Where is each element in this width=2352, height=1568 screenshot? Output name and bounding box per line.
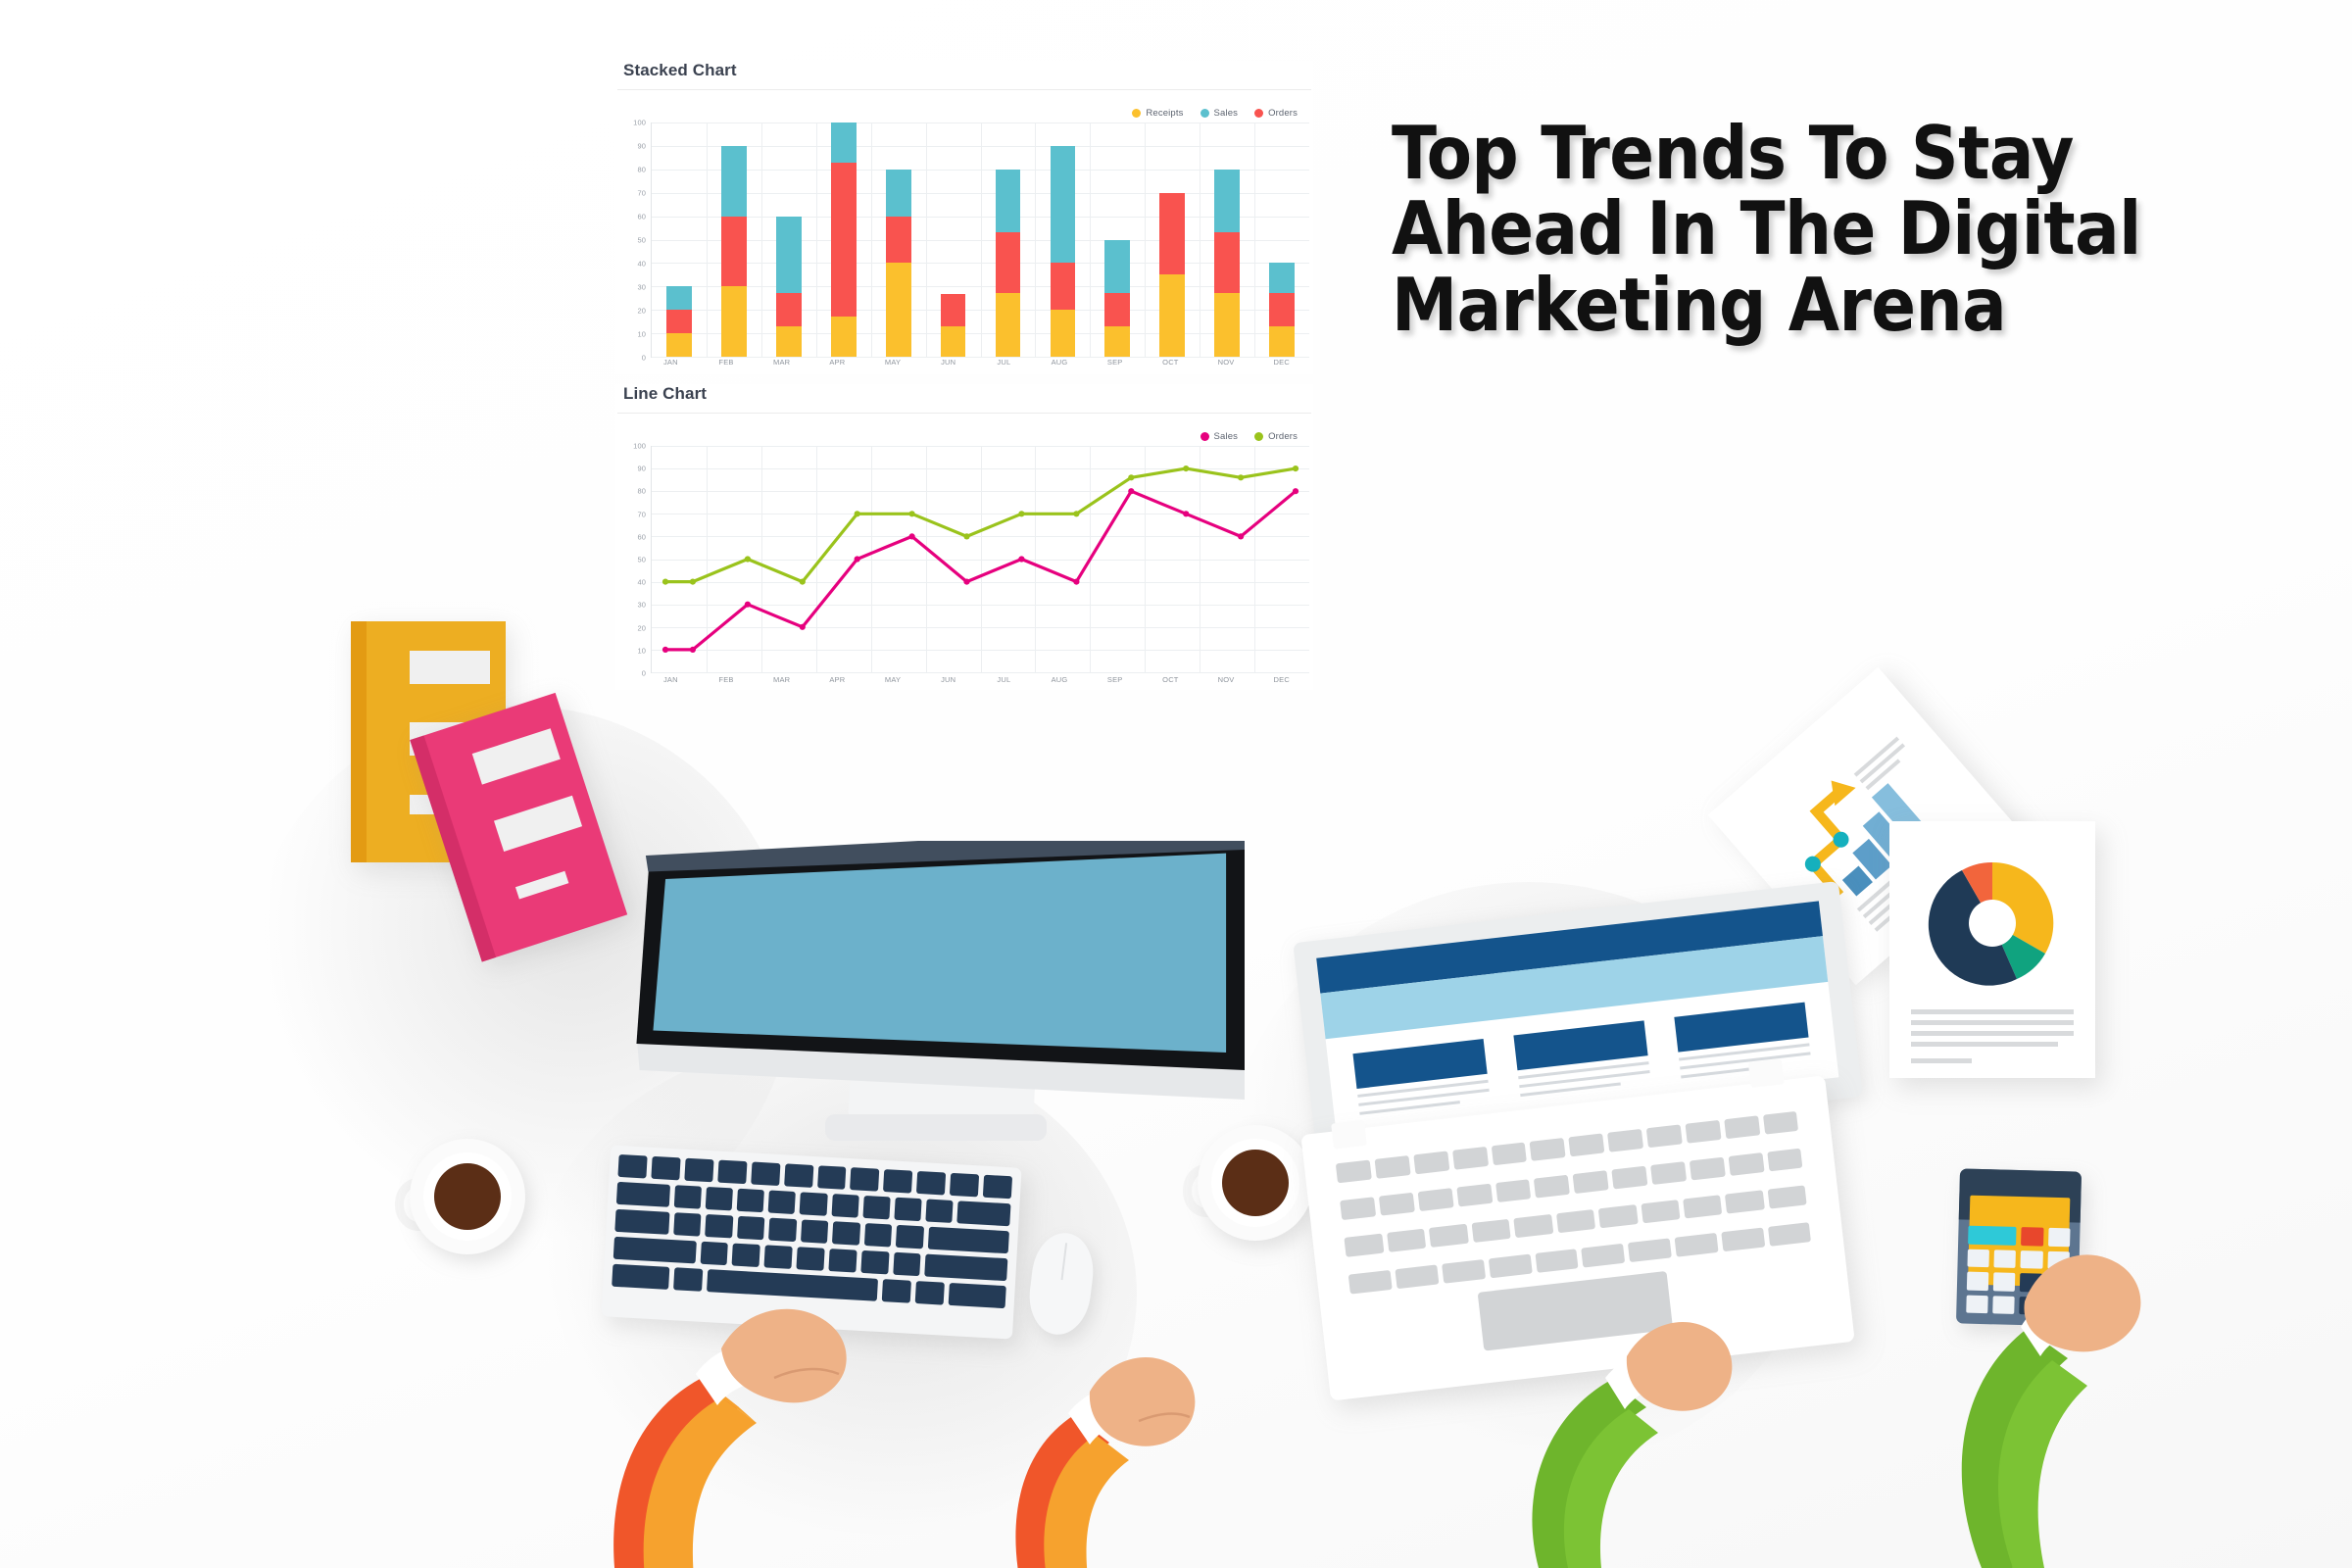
bar-segment-orders — [941, 294, 966, 326]
legend-color-dot — [1254, 109, 1263, 118]
y-tick-label: 10 — [637, 330, 646, 339]
bar-slot — [761, 122, 816, 357]
x-tick-label: MAY — [865, 675, 921, 684]
line-point — [690, 647, 696, 653]
donut-chart — [1889, 821, 2095, 1078]
line-point — [1183, 511, 1189, 516]
stacked-chart-y-axis: 0102030405060708090100 — [623, 122, 649, 358]
stacked-bar — [831, 122, 857, 357]
bar-slot — [926, 122, 981, 357]
line-chart-plot — [651, 446, 1309, 673]
line-point — [963, 579, 969, 585]
legend-label: Orders — [1268, 108, 1298, 119]
stacked-chart-title: Stacked Chart — [615, 61, 1313, 89]
stacked-bar — [1214, 170, 1240, 357]
stacked-bar — [721, 146, 747, 357]
monitor — [627, 841, 1245, 1135]
page-title: Top Trends To Stay Ahead In The Digital … — [1392, 116, 2274, 343]
bar-slot — [1145, 122, 1200, 357]
coffee-liquid — [434, 1163, 501, 1230]
bar-segment-sales — [666, 286, 692, 310]
line-point — [1238, 474, 1244, 480]
line-chart-series — [652, 446, 1309, 672]
bar-slot — [1035, 122, 1090, 357]
coffee-cup-left — [410, 1139, 525, 1254]
line-point — [1018, 556, 1024, 562]
bar-segment-orders — [776, 293, 802, 325]
y-tick-label: 30 — [637, 283, 646, 292]
x-tick-label: FEB — [699, 358, 755, 367]
line-point — [662, 579, 668, 585]
x-tick-label: OCT — [1143, 675, 1199, 684]
bar-segment-receipts — [831, 317, 857, 357]
legend-label: Sales — [1214, 431, 1239, 442]
stacked-bar — [996, 170, 1021, 357]
stacked-chart-plot — [651, 122, 1309, 358]
stacked-chart-card: Stacked Chart ReceiptsSalesOrders 010203… — [615, 61, 1313, 374]
line-point — [1293, 465, 1298, 471]
stacked-chart-bars — [652, 122, 1309, 357]
line-point — [963, 533, 969, 539]
bar-segment-receipts — [666, 333, 692, 357]
y-tick-label: 40 — [637, 578, 646, 587]
y-tick-label: 100 — [633, 119, 646, 127]
bar-segment-receipts — [886, 263, 911, 357]
book-label-band — [494, 795, 582, 851]
x-tick-label: OCT — [1143, 358, 1199, 367]
line-point — [909, 511, 915, 516]
document-pie — [1889, 821, 2095, 1078]
y-tick-label: 60 — [637, 213, 646, 221]
x-tick-label: JAN — [643, 675, 699, 684]
stacked-bar — [1104, 240, 1130, 358]
line-point — [855, 556, 860, 562]
coffee-liquid — [1222, 1150, 1289, 1216]
line-point — [1238, 533, 1244, 539]
x-tick-label: JUN — [920, 358, 976, 367]
legend-item: Sales — [1200, 108, 1239, 119]
line-series-orders — [665, 468, 1296, 581]
line-point — [1073, 579, 1079, 585]
bar-slot — [1254, 122, 1309, 357]
bar-segment-receipts — [776, 326, 802, 357]
laptop-hinge — [1748, 1059, 1785, 1089]
legend-color-dot — [1132, 109, 1141, 118]
bar-segment-receipts — [1104, 326, 1130, 357]
x-tick-label: APR — [809, 675, 865, 684]
bar-segment-orders — [831, 163, 857, 318]
legend-color-dot — [1200, 432, 1209, 441]
bar-segment-orders — [1214, 232, 1240, 293]
y-tick-label: 30 — [637, 601, 646, 610]
bar-segment-orders — [1051, 263, 1076, 310]
y-tick-label: 90 — [637, 142, 646, 151]
bar-segment-receipts — [1269, 326, 1295, 357]
x-tick-label: AUG — [1032, 358, 1088, 367]
line-point — [800, 579, 806, 585]
arm-right-person-left-hand — [1372, 1215, 1764, 1568]
bar-segment-sales — [1269, 263, 1295, 293]
line-point — [1073, 511, 1079, 516]
stacked-bar — [886, 170, 911, 357]
bar-slot — [871, 122, 926, 357]
line-chart-card: Line Chart SalesOrders 01020304050607080… — [615, 384, 1313, 690]
bar-slot — [1200, 122, 1254, 357]
bar-segment-orders — [666, 310, 692, 333]
x-tick-label: MAY — [865, 358, 921, 367]
bar-segment-sales — [721, 146, 747, 217]
x-tick-label: NOV — [1199, 675, 1254, 684]
line-point — [855, 511, 860, 516]
bar-segment-orders — [886, 217, 911, 264]
bar-segment-orders — [996, 232, 1021, 293]
coffee-cup-right — [1198, 1125, 1313, 1241]
line-point — [909, 533, 915, 539]
x-tick-label: MAR — [754, 675, 809, 684]
stacked-chart-plot-area: 0102030405060708090100 — [623, 122, 1313, 358]
bar-segment-sales — [1051, 146, 1076, 263]
headline-line-3: Marketing Arena — [1392, 268, 2274, 343]
bar-segment-sales — [776, 217, 802, 294]
legend-label: Receipts — [1146, 108, 1183, 119]
y-tick-label: 80 — [637, 166, 646, 174]
bar-segment-receipts — [941, 326, 966, 357]
book-label-band — [472, 728, 561, 784]
monitor-stand-base — [825, 1114, 1048, 1141]
line-point — [1128, 488, 1134, 494]
stacked-bar — [1269, 263, 1295, 357]
book-spine — [351, 621, 367, 862]
line-chart-plot-area: 0102030405060708090100 — [623, 446, 1313, 673]
headline-line-2: Ahead In The Digital — [1392, 191, 2274, 267]
book-label-band — [515, 871, 568, 900]
line-point — [662, 647, 668, 653]
legend-label: Orders — [1268, 431, 1298, 442]
y-tick-label: 50 — [637, 556, 646, 564]
legend-label: Sales — [1214, 108, 1239, 119]
x-tick-label: MAR — [754, 358, 809, 367]
gridline-h — [652, 672, 1309, 673]
line-point — [745, 556, 751, 562]
x-tick-label: SEP — [1087, 358, 1143, 367]
bar-segment-sales — [1214, 170, 1240, 233]
bar-segment-orders — [1104, 293, 1130, 325]
y-tick-label: 80 — [637, 487, 646, 496]
divider — [617, 89, 1311, 90]
divider — [617, 413, 1311, 414]
arm-left-person-right-hand — [882, 1254, 1215, 1568]
legend-item: Orders — [1254, 108, 1298, 119]
line-chart-legend: SalesOrders — [615, 429, 1313, 443]
bar-segment-sales — [831, 122, 857, 163]
bar-slot — [816, 122, 871, 357]
y-tick-label: 40 — [637, 260, 646, 269]
y-tick-label: 70 — [637, 189, 646, 198]
stacked-bar — [941, 293, 966, 357]
bar-segment-orders — [1269, 293, 1295, 325]
x-tick-label: AUG — [1032, 675, 1088, 684]
stacked-chart-x-axis: JANFEBMARAPRMAYJUNJULAUGSEPOCTNOVDEC — [643, 358, 1309, 367]
legend-color-dot — [1254, 432, 1263, 441]
x-tick-label: SEP — [1087, 675, 1143, 684]
line-point — [745, 602, 751, 608]
arm-left-person — [529, 1205, 941, 1568]
arm-right-person-right-hand — [1744, 1156, 2156, 1568]
y-tick-label: 50 — [637, 236, 646, 245]
line-point — [1018, 511, 1024, 516]
stacked-bar — [1051, 146, 1076, 357]
x-tick-label: DEC — [1253, 675, 1309, 684]
x-tick-label: JUL — [976, 358, 1032, 367]
y-tick-label: 70 — [637, 510, 646, 518]
bar-segment-orders — [1159, 193, 1185, 275]
y-tick-label: 20 — [637, 307, 646, 316]
headline-line-1: Top Trends To Stay — [1392, 116, 2274, 191]
x-tick-label: JUL — [976, 675, 1032, 684]
x-tick-label: FEB — [699, 675, 755, 684]
x-tick-label: NOV — [1199, 358, 1254, 367]
bar-slot — [1090, 122, 1145, 357]
line-series-sales — [665, 491, 1296, 650]
bar-segment-receipts — [1159, 274, 1185, 357]
line-point — [1128, 474, 1134, 480]
x-tick-label: JAN — [643, 358, 699, 367]
bar-segment-sales — [886, 170, 911, 217]
legend-item: Receipts — [1132, 108, 1183, 119]
bar-segment-sales — [1104, 240, 1130, 294]
book-label-band — [410, 651, 490, 684]
poster-canvas: Stacked Chart ReceiptsSalesOrders 010203… — [0, 0, 2352, 1568]
bar-segment-receipts — [721, 286, 747, 357]
y-tick-label: 10 — [637, 646, 646, 655]
bar-slot — [981, 122, 1036, 357]
y-tick-label: 60 — [637, 532, 646, 541]
y-tick-label: 100 — [633, 442, 646, 451]
y-tick-label: 20 — [637, 623, 646, 632]
bar-slot — [707, 122, 761, 357]
x-tick-label: APR — [809, 358, 865, 367]
bar-slot — [652, 122, 707, 357]
stacked-bar — [776, 217, 802, 357]
line-point — [690, 579, 696, 585]
stacked-bar — [666, 286, 692, 357]
line-chart-title: Line Chart — [615, 384, 1313, 413]
bar-segment-receipts — [1214, 293, 1240, 357]
line-point — [1183, 465, 1189, 471]
stacked-chart-legend: ReceiptsSalesOrders — [615, 106, 1313, 120]
x-tick-label: JUN — [920, 675, 976, 684]
x-tick-label: DEC — [1253, 358, 1309, 367]
y-tick-label: 90 — [637, 465, 646, 473]
stacked-bar — [1159, 193, 1185, 357]
bar-segment-receipts — [996, 293, 1021, 357]
legend-item: Orders — [1254, 431, 1298, 442]
line-point — [800, 624, 806, 630]
legend-color-dot — [1200, 109, 1209, 118]
line-chart-y-axis: 0102030405060708090100 — [623, 446, 649, 673]
line-chart-x-axis: JANFEBMARAPRMAYJUNJULAUGSEPOCTNOVDEC — [643, 675, 1309, 684]
line-point — [1293, 488, 1298, 494]
laptop-hinge — [1332, 1120, 1368, 1150]
bar-segment-sales — [996, 170, 1021, 233]
legend-item: Sales — [1200, 431, 1239, 442]
bar-segment-receipts — [1051, 310, 1076, 357]
bar-segment-orders — [721, 217, 747, 287]
